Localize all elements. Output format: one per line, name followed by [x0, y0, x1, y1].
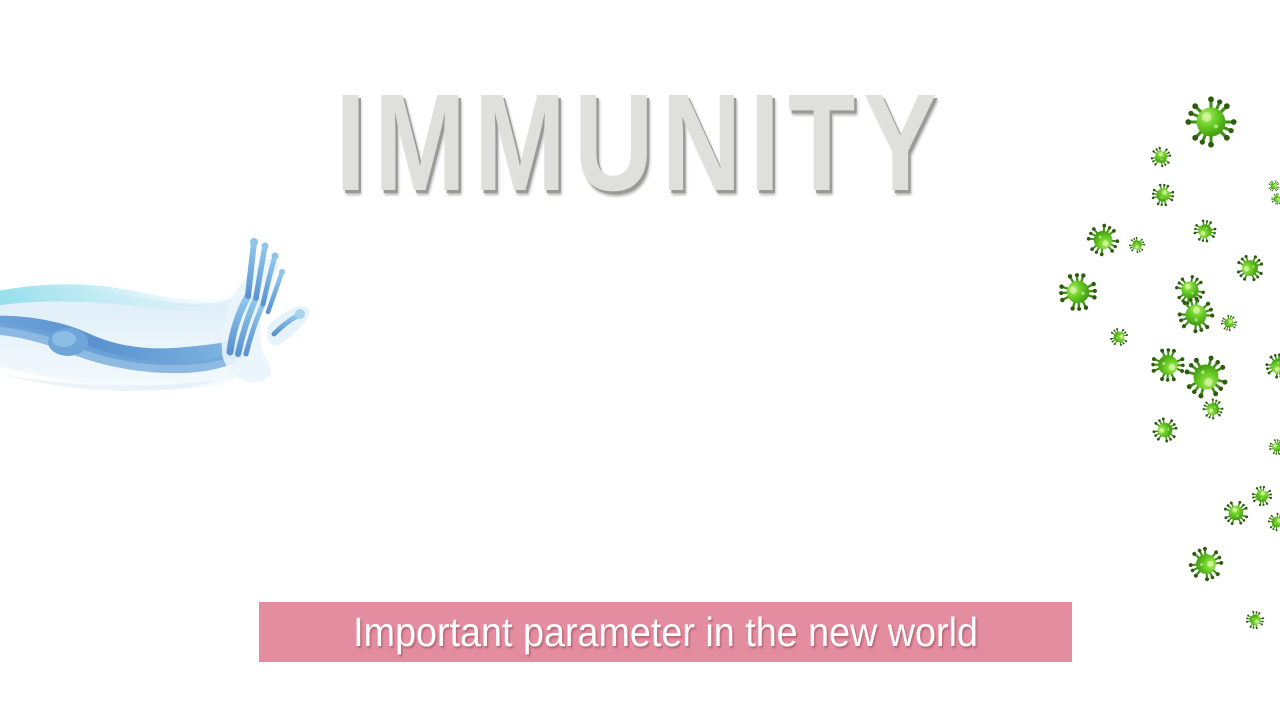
- presentation-slide: IMMUNITY Important parameter in the new …: [0, 0, 1280, 720]
- virus-particle: [1185, 96, 1236, 147]
- virus-particle: [1231, 249, 1268, 286]
- virus-particle: [1191, 217, 1218, 244]
- virus-particle: [1051, 265, 1104, 318]
- virus-particle: [1125, 233, 1148, 256]
- virus-particle: [1267, 512, 1280, 532]
- virus-particle: [1145, 342, 1190, 387]
- virus-particle: [1149, 181, 1178, 210]
- virus-particle: [1220, 314, 1238, 332]
- virus-particle: [1172, 272, 1207, 307]
- virus-particle: [1181, 539, 1230, 588]
- virus-particle: [1202, 398, 1223, 419]
- virus-particle: [1170, 289, 1223, 342]
- virus-particle: [1260, 348, 1280, 384]
- virus-particle: [1146, 142, 1175, 171]
- virus-particle: [1269, 191, 1280, 207]
- title-container: IMMUNITY: [0, 74, 1280, 212]
- virus-particle: [1248, 482, 1277, 511]
- virus-particle: [1220, 497, 1253, 530]
- virus-particle: [1266, 178, 1280, 193]
- subtitle-text: Important parameter in the new world: [353, 612, 978, 653]
- subtitle-banner: Important parameter in the new world: [259, 602, 1072, 662]
- page-title: IMMUNITY: [335, 74, 945, 212]
- virus-particle: [1267, 437, 1280, 457]
- virus-particle: [1244, 609, 1266, 631]
- translucent-arm-graphic: [0, 222, 312, 397]
- virus-particle: [1106, 324, 1132, 350]
- virus-particle: [1179, 350, 1233, 404]
- virus-particle: [1147, 412, 1183, 448]
- virus-particle: [1085, 222, 1120, 257]
